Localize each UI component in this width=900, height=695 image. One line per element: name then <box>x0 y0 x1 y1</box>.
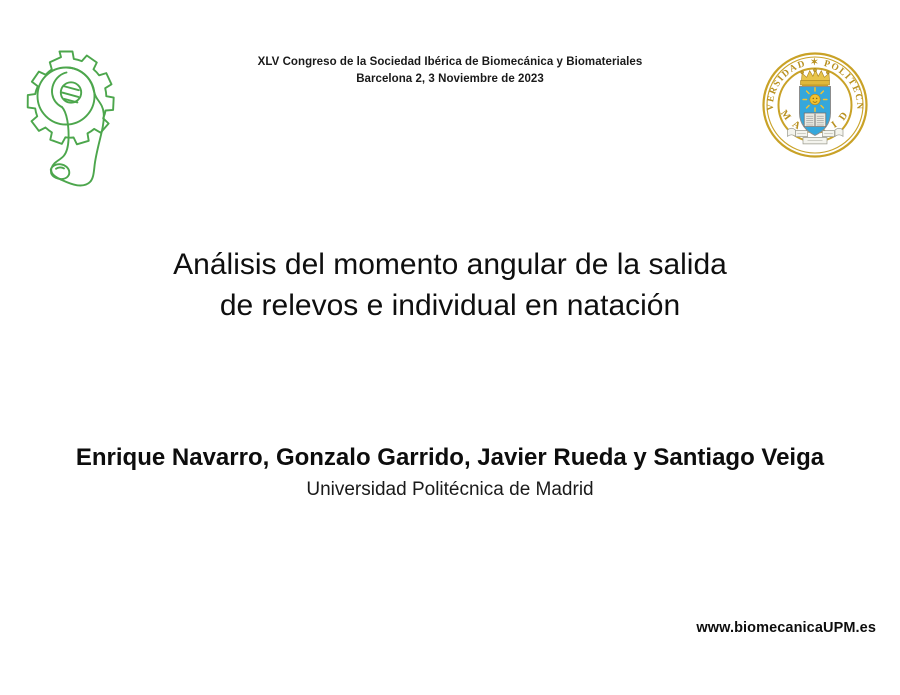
presentation-slide: XLV Congreso de la Sociedad Ibérica de B… <box>0 0 900 695</box>
authors-names: Enrique Navarro, Gonzalo Garrido, Javier… <box>0 443 900 473</box>
upm-logo: UNIVERSIDAD ✶ POLITECNICA ✦ M A D R I D … <box>761 51 869 159</box>
title-line-2: de relevos e individual en natación <box>0 285 900 326</box>
congress-title-line1: XLV Congreso de la Sociedad Ibérica de B… <box>258 56 643 68</box>
shield <box>800 87 831 136</box>
open-book-icon <box>804 113 826 127</box>
page-title: Análisis del momento angular de la salid… <box>0 244 900 326</box>
sun-icon <box>803 88 827 111</box>
authors-affiliation: Universidad Politécnica de Madrid <box>0 477 900 502</box>
footer-website: www.biomecanicaUPM.es <box>696 620 876 636</box>
title-line-1: Análisis del momento angular de la salid… <box>0 244 900 285</box>
